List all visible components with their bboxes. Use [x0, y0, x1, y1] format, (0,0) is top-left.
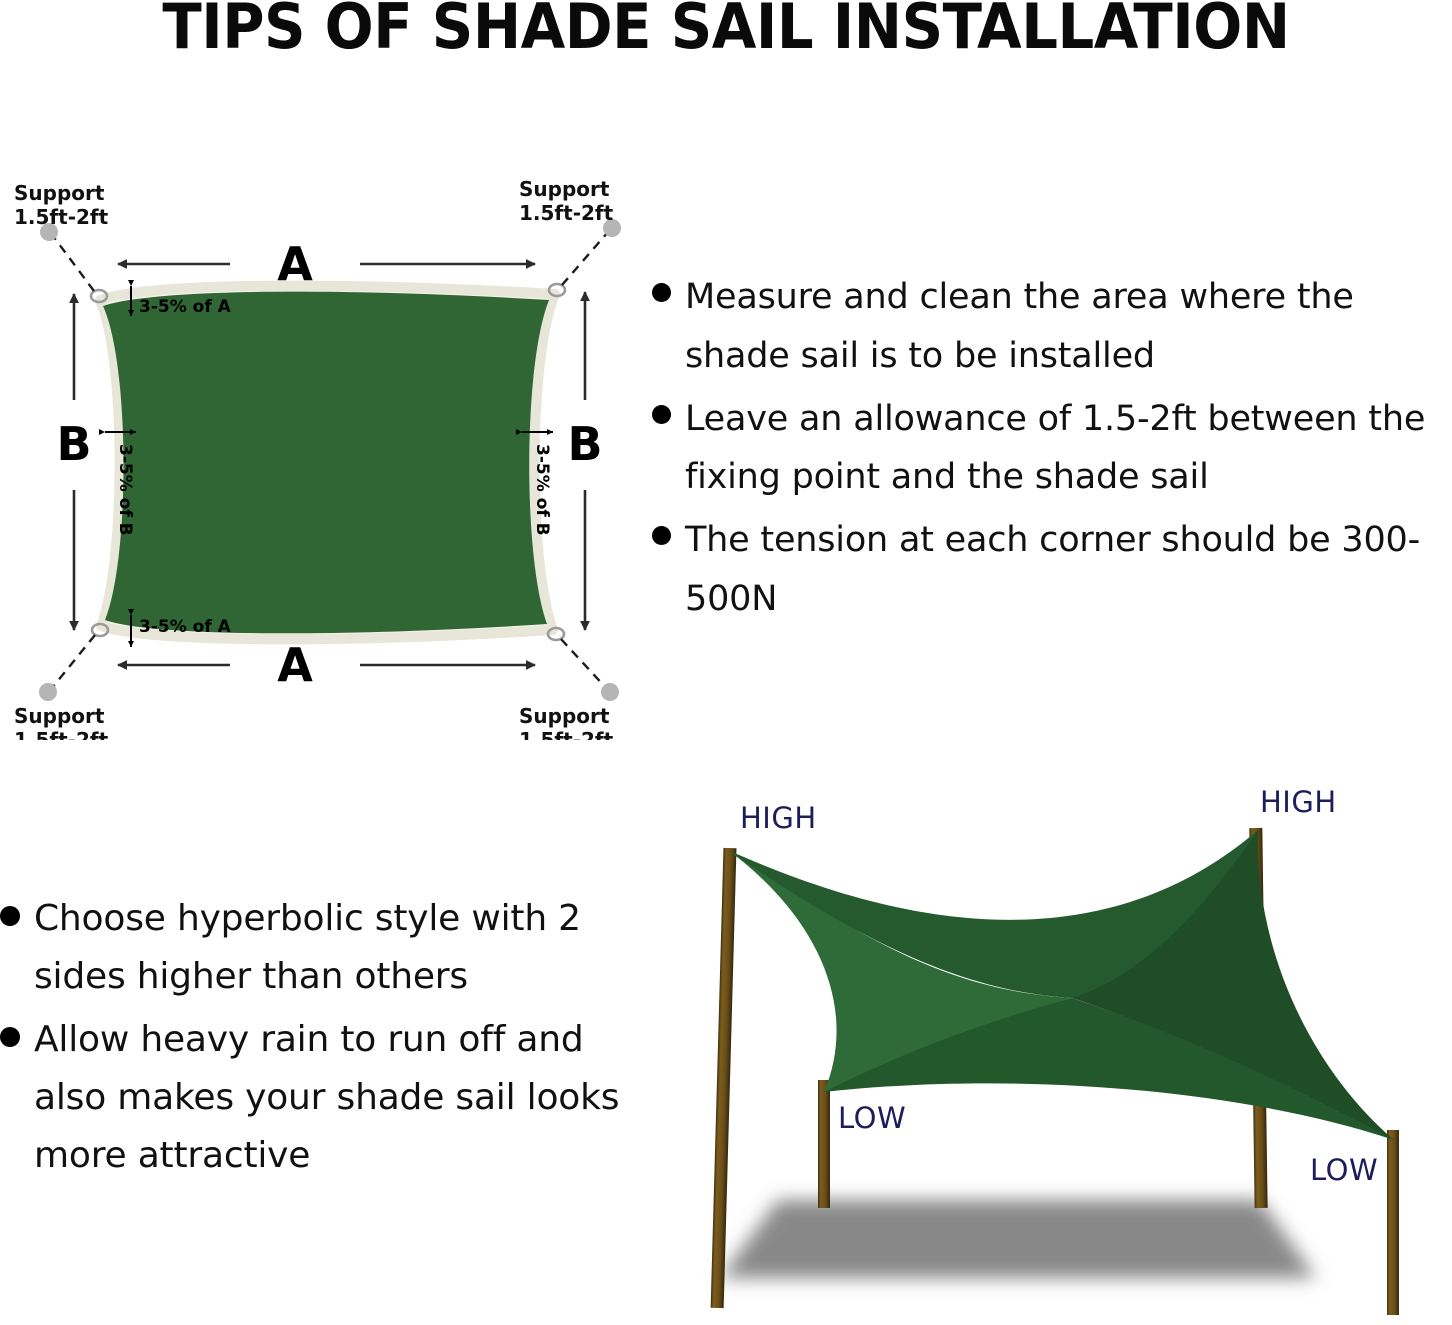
support-label-line2: 1.5ft-2ft	[519, 201, 614, 225]
list-item: Allow heavy rain to run off and also mak…	[0, 1011, 630, 1186]
bullet-icon	[0, 906, 20, 926]
support-label-line1: Support	[14, 704, 105, 728]
support-label-bottom-left: Support 1.5ft-2ft	[14, 704, 109, 740]
tether-bottom-left	[52, 635, 95, 688]
dimension-letter-a-bottom: A	[277, 638, 313, 692]
tip-text: Measure and clean the area where the sha…	[685, 268, 1452, 386]
post-low-left	[818, 1080, 830, 1208]
tips-list-top: Measure and clean the area where the sha…	[652, 268, 1452, 633]
support-label-line2: 1.5ft-2ft	[14, 728, 109, 740]
tip-text: Choose hyperbolic style with 2 sides hig…	[34, 890, 630, 1007]
support-label-bottom-right: Support 1.5ft-2ft	[519, 704, 614, 740]
tip-text: The tension at each corner should be 300…	[685, 511, 1452, 629]
dimension-letter-a-top: A	[277, 237, 313, 291]
tip-text: Leave an allowance of 1.5-2ft between th…	[685, 390, 1452, 508]
list-item: Measure and clean the area where the sha…	[652, 268, 1452, 386]
tips-list-bottom: Choose hyperbolic style with 2 sides hig…	[0, 890, 630, 1190]
support-label-line2: 1.5ft-2ft	[14, 205, 109, 229]
label-low-left: LOW	[838, 1101, 906, 1135]
support-label-line1: Support	[519, 177, 610, 201]
list-item: Leave an allowance of 1.5-2ft between th…	[652, 390, 1452, 508]
post-high-left	[711, 848, 737, 1308]
bullet-icon	[652, 405, 671, 424]
tether-top-left	[53, 236, 94, 291]
support-label-line1: Support	[519, 704, 610, 728]
dimension-letter-b-left: B	[56, 417, 91, 471]
support-label-line2: 1.5ft-2ft	[519, 728, 614, 740]
support-dot-bottom-left	[39, 683, 57, 701]
list-item: Choose hyperbolic style with 2 sides hig…	[0, 890, 630, 1007]
support-label-top-left: Support 1.5ft-2ft	[14, 181, 109, 229]
curve-label-top: 3-5% of A	[139, 297, 232, 317]
support-label-line1: Support	[14, 181, 105, 205]
support-dot-bottom-right	[601, 683, 619, 701]
tether-bottom-right	[561, 639, 606, 688]
dimension-letter-b-right: B	[567, 417, 602, 471]
bullet-icon	[0, 1027, 20, 1047]
curve-label-left: 3-5% of B	[115, 444, 135, 536]
label-low-right: LOW	[1310, 1153, 1378, 1187]
sail-shape-group	[100, 286, 555, 640]
tether-top-right	[562, 232, 608, 285]
post-low-right	[1387, 1130, 1399, 1315]
label-high-right: HIGH	[1260, 785, 1337, 819]
bullet-icon	[652, 283, 671, 302]
curve-label-right: 3-5% of B	[532, 444, 552, 536]
support-label-top-right: Support 1.5ft-2ft	[519, 177, 614, 225]
curve-annotation-left: 3-5% of B	[105, 432, 136, 536]
rectangular-sail-diagram: Support 1.5ft-2ft Support 1.5ft-2ft Supp…	[0, 160, 660, 740]
sail-fabric	[103, 292, 549, 634]
curve-label-bottom: 3-5% of A	[139, 617, 232, 637]
list-item: The tension at each corner should be 300…	[652, 511, 1452, 629]
hyperbolic-sail-diagram: HIGH HIGH LOW LOW	[672, 780, 1452, 1325]
ground-shadow	[720, 1200, 1316, 1278]
page-title: TIPS OF SHADE SAIL INSTALLATION	[51, 0, 1401, 59]
tip-text: Allow heavy rain to run off and also mak…	[34, 1011, 630, 1186]
bullet-icon	[652, 526, 671, 545]
label-high-left: HIGH	[740, 801, 817, 835]
